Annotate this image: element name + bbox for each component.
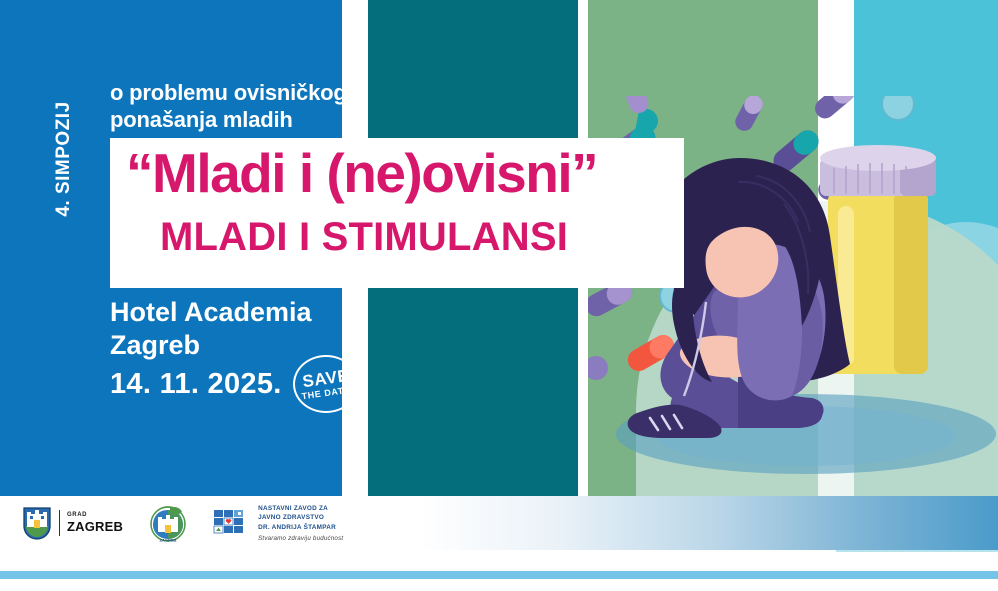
venue-line-2: Zagreb xyxy=(110,329,450,362)
event-subtitle: MLADI I STIMULANSI xyxy=(160,217,568,257)
title-card: “Mladi i (ne)ovisni” MLADI I STIMULANSI xyxy=(110,138,684,288)
pill-capsule-lilac-1 xyxy=(732,96,766,134)
sponsor-logo-row: GRAD ZAGREB ZAGREB xyxy=(22,500,343,546)
nzjz-tagline: Stvaramo zdraviju budućnost xyxy=(258,535,343,542)
bottom-accent-bar xyxy=(0,571,998,579)
logo-divider xyxy=(59,510,60,536)
svg-text:ZAGREB: ZAGREB xyxy=(160,538,177,543)
kicker-subtitle: o problemu ovisničkog ponašanja mladih xyxy=(110,80,530,134)
venue-block: Hotel Academia Zagreb xyxy=(110,296,450,362)
venue-line-1: Hotel Academia xyxy=(110,296,450,329)
nzjz-line-1: NASTAVNI ZAVOD ZA xyxy=(258,504,343,513)
logo-nastavni-zavod: NASTAVNI ZAVOD ZA JAVNO ZDRAVSTVO DR. AN… xyxy=(213,504,343,541)
nzjz-line-2: JAVNO ZDRAVSTVO xyxy=(258,513,343,522)
pill-capsule-lilac-2 xyxy=(811,96,859,122)
zagreb-coat-of-arms-icon xyxy=(22,506,52,540)
event-date: 14. 11. 2025. xyxy=(110,368,282,401)
pill-dot-purple-1 xyxy=(588,356,608,380)
logo-line-zagreb: ZAGREB xyxy=(67,520,123,534)
save-the-date-badge: SAVE THE DATE xyxy=(293,355,359,413)
kicker-line-1: o problemu ovisničkog xyxy=(110,80,530,107)
grad-zagreb-wordmark: GRAD ZAGREB xyxy=(67,512,123,534)
event-title: “Mladi i (ne)ovisni” xyxy=(126,146,597,201)
bottle-cap-top xyxy=(820,145,936,171)
poster-canvas: 4. SIMPOZIJ o problemu ovisničkog ponaša… xyxy=(0,0,998,591)
nzjz-wordmark: NASTAVNI ZAVOD ZA JAVNO ZDRAVSTVO DR. AN… xyxy=(258,504,343,541)
apple-seal-icon: ZAGREB xyxy=(147,503,189,543)
logo-zagreb-apple-seal: ZAGREB xyxy=(147,503,189,543)
logo-grad-zagreb: GRAD ZAGREB xyxy=(22,506,123,540)
nzjz-squares-icon xyxy=(213,507,251,539)
kicker-line-2: ponašanja mladih xyxy=(110,107,530,134)
bottom-white-strip xyxy=(0,579,998,591)
bottle-body-shade xyxy=(894,192,928,374)
nzjz-line-3: DR. ANDRIJA ŠTAMPAR xyxy=(258,523,343,532)
vertical-symposium-label: 4. SIMPOZIJ xyxy=(53,79,75,239)
